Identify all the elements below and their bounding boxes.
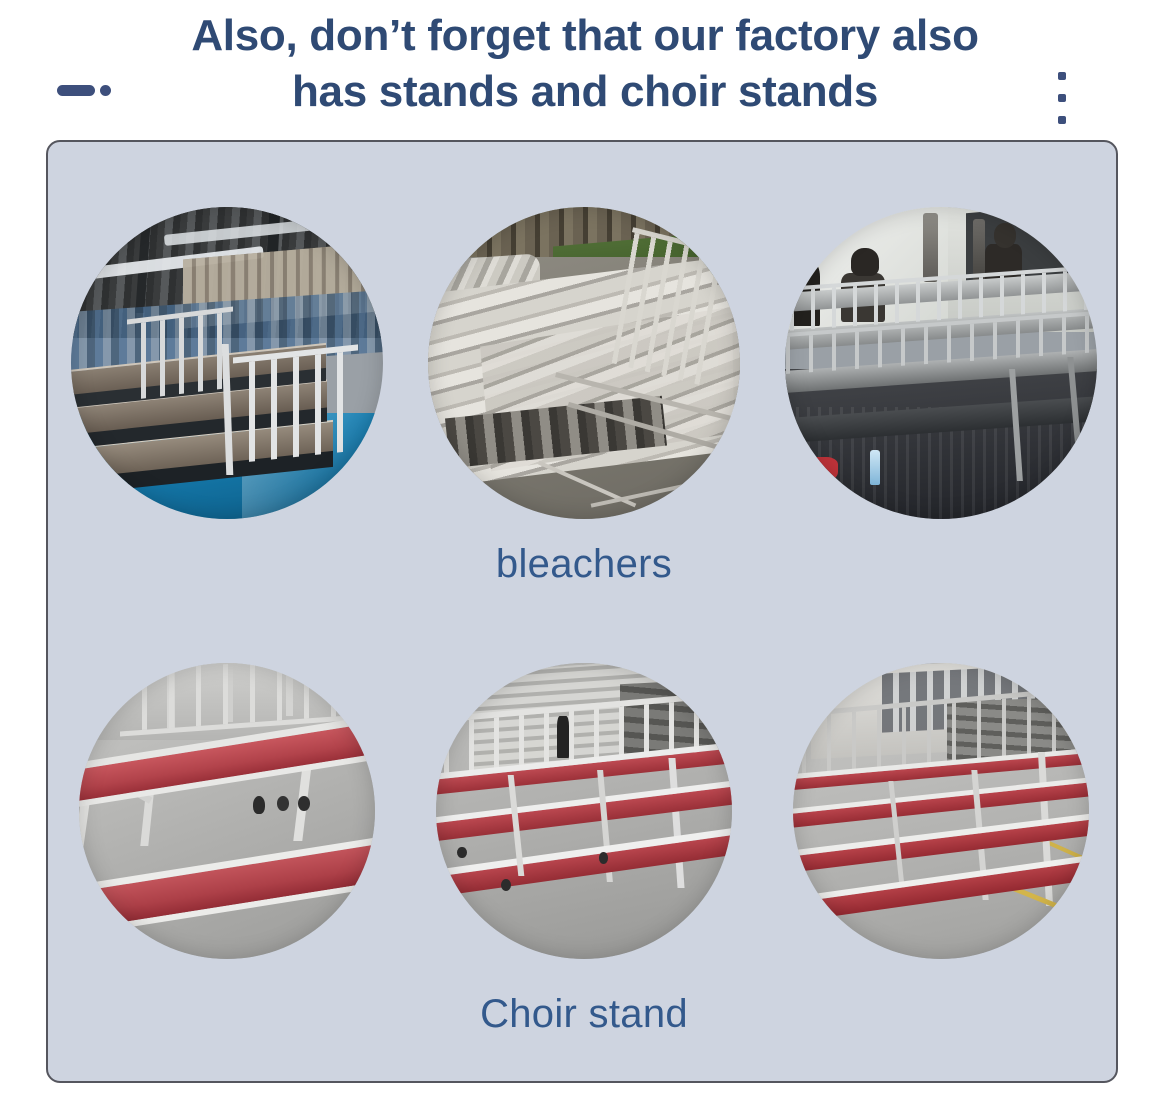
dash-dot-icon[interactable]	[57, 82, 111, 98]
kebab-dot-3	[1058, 116, 1066, 124]
photo-choir-stand-two-tier[interactable]	[79, 663, 375, 959]
photo-choir-stand-four-tier[interactable]	[793, 663, 1089, 959]
photo-bleachers-plank-stack[interactable]	[428, 207, 740, 519]
photo-bleachers-assembly[interactable]	[785, 207, 1097, 519]
content-panel: bleachers	[46, 140, 1118, 1083]
caption-bleachers: bleachers	[48, 542, 1118, 587]
page-title: Also, don’t forget that our factory also…	[110, 8, 1060, 120]
gallery-row-choir-stand	[48, 652, 1118, 970]
kebab-dot-1	[1058, 72, 1066, 80]
page-root: Also, don’t forget that our factory also…	[0, 0, 1170, 1094]
caption-choir-stand: Choir stand	[48, 992, 1118, 1037]
dash-bar	[57, 85, 95, 96]
photo-bleachers-warehouse[interactable]	[71, 207, 383, 519]
photo-choir-stand-three-tier[interactable]	[436, 663, 732, 959]
gallery-row-bleachers	[48, 204, 1118, 522]
header: Also, don’t forget that our factory also…	[0, 0, 1170, 128]
kebab-menu-icon[interactable]	[1056, 72, 1068, 124]
kebab-dot-2	[1058, 94, 1066, 102]
